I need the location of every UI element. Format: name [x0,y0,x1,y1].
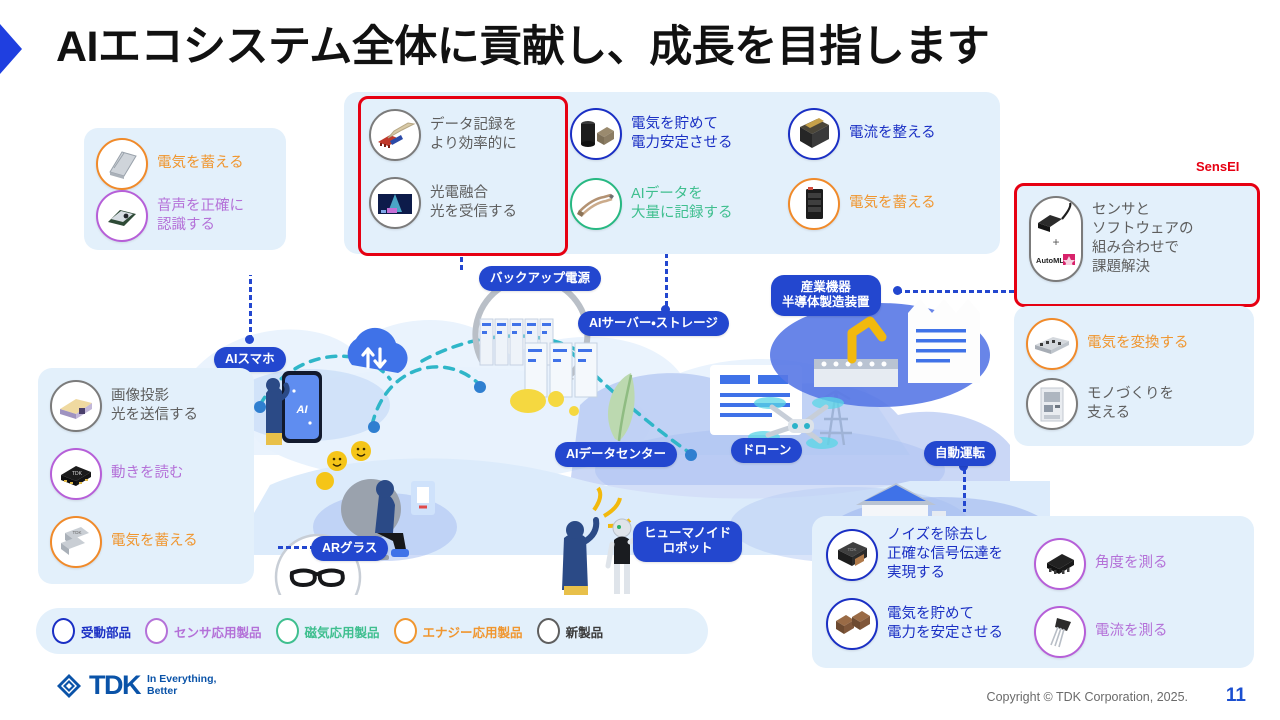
factory-machine-icon [1026,378,1078,430]
hdd-head-icon [369,109,421,161]
imu-chip-icon: TDK [50,448,102,500]
product-label: AIデータを 大量に記録する [631,185,733,223]
node-label-backup-power[interactable]: バックアップ電源 [479,266,601,291]
node-label-humanoid-robot[interactable]: ヒューマノイド ロボット [633,521,742,562]
node-label-autonomous-driving[interactable]: 自動運転 [924,441,996,466]
node-label-industrial[interactable]: 産業機器 半導体製造装置 [771,275,881,316]
power-supply-icon [1026,318,1078,370]
product-label: データ記録を より効率的に [430,116,517,154]
legend-label: 磁気応用製品 [305,622,380,641]
legend-label: エナジー応用製品 [423,622,523,641]
connector-autonomous [963,466,966,512]
connector-ai-server [665,252,668,310]
product-label: 電気を変換する [1087,334,1189,353]
legend-circle-new [537,618,560,644]
projector-module-icon [50,380,102,432]
svg-text:TDK: TDK [72,471,83,477]
hdd-suspension-icon [570,178,622,230]
legend-circle-sensor [145,618,168,644]
legend-label: 受動部品 [81,622,131,641]
product-item[interactable]: 角度を測る [1034,538,1168,590]
product-item[interactable]: 電気を変換する [1026,318,1189,370]
title-arrow-icon [0,24,36,74]
product-item[interactable]: TDK 動きを読む [50,448,184,500]
inductor-block-icon [788,108,840,160]
connector-dot-smartphone [245,335,254,344]
product-item[interactable]: 電気を貯めて 電力安定させる [570,108,733,160]
product-item[interactable]: TDK ノイズを除去し 正確な信号伝達を 実現する [826,526,1003,583]
page-number: 11 [1226,685,1246,707]
product-label: 画像投影 光を送信する [111,387,198,425]
slide-root: AIエコシステム全体に貢献し、成長を目指します [0,0,1280,720]
svg-text:+: + [1052,235,1059,249]
connector-ai-smartphone [249,275,252,339]
product-label: 電流を測る [1095,622,1168,641]
product-label: 角度を測る [1095,554,1168,573]
node-label-ar-glasses[interactable]: ARグラス [311,536,388,561]
copyright-text: Copyright © TDK Corporation, 2025. [987,690,1188,704]
product-label: 電気を蓄える [849,194,936,213]
tdk-logo-tagline: In Everything, Better [147,674,216,696]
node-label-drone[interactable]: ドローン [731,438,802,463]
panel-right-mid: 電気を変換する モノづくりを 支える [1014,306,1254,446]
product-item[interactable]: 電気を蓄える [96,138,244,190]
product-item[interactable]: 電流を整える [788,108,936,160]
tdk-logo: TDK In Everything, Better [56,672,216,699]
product-label: 光電融合 光を受信する [430,184,517,222]
battery-rack-icon [788,178,840,230]
sensor-automl-icon: + AutoML [1029,196,1083,282]
svg-text:TDK: TDK [73,530,82,535]
panel-bottom-right: TDK ノイズを除去し 正確な信号伝達を 実現する 電気を貯めて 電力を安定させ… [812,516,1254,668]
product-item[interactable]: TDK 電気を蓄える [50,516,198,568]
product-label: 動きを読む [111,464,184,483]
legend-circle-energy [394,618,417,644]
product-item[interactable]: 画像投影 光を送信する [50,380,198,432]
product-item[interactable]: データ記録を より効率的に [369,109,517,161]
product-label: センサと ソフトウェアの 組み合わせで 課題解決 [1092,201,1194,278]
panel-new-products-highlight: データ記録を より効率的に 光電融合 光を受信する [358,96,568,256]
panel-top-left: 電気を蓄える 音声を正確に 認識する [84,128,286,250]
mlcc-pair-icon [826,598,878,650]
node-label-ai-server-storage[interactable]: AIサーバー・ストレージ [578,311,729,336]
battery-cell-icon [96,138,148,190]
sensei-tag: SensEI [1196,159,1239,174]
product-label: 音声を正確に 認識する [157,197,244,235]
svg-text:AI: AI [296,404,309,416]
common-mode-choke-icon: TDK [826,529,878,581]
product-item[interactable]: + AutoML センサと ソフトウェアの 組み合わせで 課題解決 [1029,196,1194,282]
product-item[interactable]: 電気を貯めて 電力を安定させる [826,598,1003,650]
legend-item-sensor: センサ応用製品 [145,618,262,644]
product-label: 電流を整える [849,124,936,143]
legend-circle-passive [52,618,75,644]
product-label: ノイズを除去し 正確な信号伝達を 実現する [887,526,1003,583]
product-label: 電気を蓄える [157,154,244,173]
current-sensor-icon [1034,606,1086,658]
legend-item-new: 新製品 [537,618,604,644]
angle-sensor-icon [1034,538,1086,590]
product-label: モノづくりを 支える [1087,385,1174,423]
microphone-chip-icon [96,190,148,242]
tdk-logo-mark-icon [56,673,82,699]
photonics-icon [369,177,421,229]
product-item[interactable]: AIデータを 大量に記録する [570,178,733,230]
product-item[interactable]: 電流を測る [1034,606,1168,658]
panel-sensei: + AutoML センサと ソフトウェアの 組み合わせで 課題解決 [1014,183,1260,307]
node-label-ai-data-center[interactable]: AIデータセンター [555,442,677,467]
legend-label: 新製品 [566,622,604,641]
svg-text:AutoML: AutoML [1036,256,1064,265]
product-label: 電気を蓄える [111,532,198,551]
tdk-tagline-line1: In Everything, [147,674,216,685]
tdk-logo-text: TDK [89,672,140,699]
capacitor-icon [570,108,622,160]
legend-item-magnetic: 磁気応用製品 [276,618,380,644]
connector-sensei [897,290,1017,293]
panel-left-mid: 画像投影 光を送信する TDK 動きを読む [38,368,254,584]
product-label: 電気を貯めて 電力を安定させる [887,605,1003,643]
product-label: 電気を貯めて 電力安定させる [631,115,733,153]
mlcc-icon: TDK [50,516,102,568]
legend-circle-magnetic [276,618,299,644]
legend-item-passive: 受動部品 [52,618,131,644]
product-item[interactable]: 光電融合 光を受信する [369,177,517,229]
product-item[interactable]: モノづくりを 支える [1026,378,1174,430]
svg-text:TDK: TDK [848,547,857,552]
product-item[interactable]: 電気を蓄える [788,178,936,230]
legend-item-energy: エナジー応用製品 [394,618,523,644]
tdk-tagline-line2: Better [147,686,216,697]
product-item[interactable]: 音声を正確に 認識する [96,190,244,242]
page-title: AIエコシステム全体に貢献し、成長を目指します [56,24,989,71]
connector-dot-industrial [893,286,902,295]
legend-label: センサ応用製品 [174,622,262,641]
legend: 受動部品 センサ応用製品 磁気応用製品 エナジー応用製品 新製品 [36,608,708,654]
